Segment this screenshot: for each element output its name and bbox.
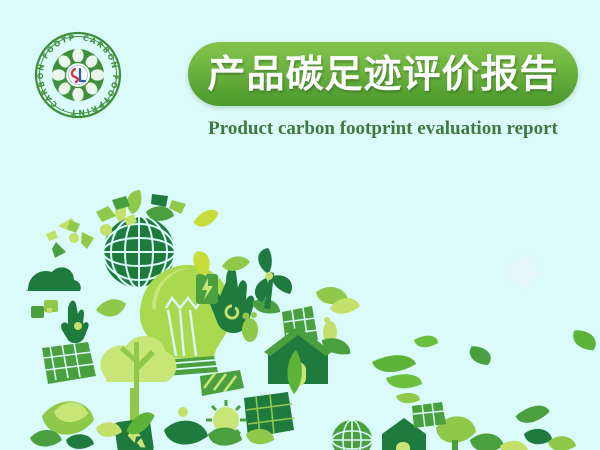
page-subtitle: Product carbon footprint evaluation repo… xyxy=(188,118,578,140)
battery-icon xyxy=(196,274,218,304)
tree-icon xyxy=(100,336,176,428)
wind-turbine-icon xyxy=(255,248,292,309)
title-banner: 产品碳足迹评价报告 xyxy=(188,42,578,106)
hand-icon xyxy=(61,301,89,344)
report-cover-page: CARBON FOOTPRINT · CARBON FOOTPRINT · xyxy=(0,0,600,450)
solar-panel-icon xyxy=(42,342,96,384)
leaf-icon xyxy=(222,256,250,271)
recycle-icon xyxy=(200,370,244,396)
carbon-footprint-seal: CARBON FOOTPRINT · CARBON FOOTPRINT · xyxy=(32,29,124,121)
recycle-icon xyxy=(46,218,94,258)
eco-icon-footprint-collage xyxy=(0,190,600,450)
leaf-icon xyxy=(96,299,126,316)
globe-icon xyxy=(332,420,372,450)
page-title: 产品碳足迹评价报告 xyxy=(207,55,558,93)
leaf-icon xyxy=(30,401,122,449)
solar-panel-icon xyxy=(412,402,446,428)
leaf-icon xyxy=(470,429,576,450)
